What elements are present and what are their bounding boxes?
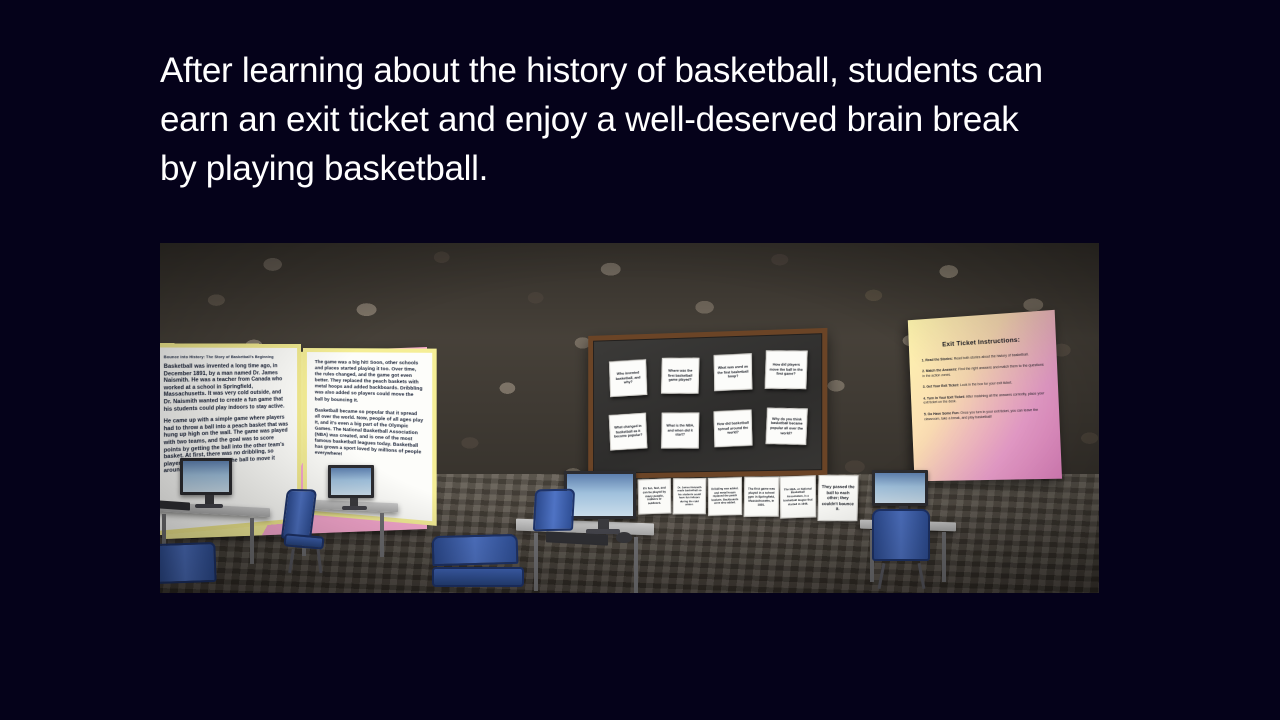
question-card[interactable]: What changed in basketball as it became … <box>608 412 647 450</box>
poster-step: 1. Read the Stories: Read both stories a… <box>922 351 1044 363</box>
answer-card[interactable]: The NBA, or National Basketball Associat… <box>780 475 816 518</box>
question-card-grid: Who invented basketball, and why? Where … <box>594 334 821 473</box>
desk-leg <box>634 537 638 593</box>
poster-step: 4. Turn In Your Exit Ticket: After match… <box>923 391 1045 406</box>
answer-card[interactable]: The first game was played in a school gy… <box>743 477 779 517</box>
poster-step-number: 5. <box>924 412 927 416</box>
answer-card[interactable]: They passed the ball to each other; they… <box>818 475 859 521</box>
book-title: Bounce into History: The Story of Basket… <box>164 355 290 360</box>
answer-card[interactable]: Dribbling was added, and metal hoops rep… <box>708 477 742 516</box>
book-paragraph: The game was a big hit! Soon, other scho… <box>315 359 424 405</box>
question-card[interactable]: How did basketball spread around the wor… <box>713 409 752 447</box>
poster-step-number: 2. <box>922 369 925 373</box>
chair <box>872 509 934 587</box>
monitor-screen <box>180 458 232 495</box>
classroom-scene-image: Bounce into History: The Story of Basket… <box>160 243 1099 593</box>
question-card[interactable]: Why do you think basketball became popul… <box>765 407 807 444</box>
monitor <box>180 458 238 508</box>
poster-step: 2. Match the Answers: Find the right ans… <box>922 363 1044 379</box>
question-card[interactable]: What was used as the first basketball ho… <box>713 354 752 392</box>
poster-step-label: Read the Stories: <box>925 357 953 363</box>
chair-seat <box>432 567 524 587</box>
chair <box>160 543 224 593</box>
monitor-stand-neck <box>205 495 214 504</box>
desk-leg <box>380 513 384 557</box>
poster-step-number: 1. <box>922 358 925 362</box>
exit-ticket-instructions-poster: Exit Ticket Instructions: 1. Read the St… <box>908 310 1062 481</box>
answer-card[interactable]: It's fun, fast, and can be played by man… <box>638 478 671 514</box>
chair-leg <box>878 563 886 589</box>
question-card[interactable]: Who invented basketball, and why? <box>608 359 646 397</box>
page-title: After learning about the history of bask… <box>160 46 1060 193</box>
answer-card[interactable]: Dr. James Naismith made basketball so hi… <box>673 478 706 514</box>
monitor-stand-base <box>195 504 223 508</box>
monitor-screen <box>872 470 928 506</box>
blackboard-surface: Who invented basketball, and why? Where … <box>593 333 822 474</box>
chair <box>534 489 588 549</box>
book-paragraph: Basketball was invented a long time ago,… <box>164 363 290 413</box>
question-card[interactable]: What is the NBA, and when did it start? <box>661 412 699 448</box>
chair-backrest <box>432 534 519 566</box>
monitor-screen <box>328 465 374 498</box>
monitor-stand-neck <box>598 519 609 529</box>
poster-step-text: Read both stories about the history of b… <box>954 352 1029 360</box>
desk-leg <box>942 532 946 582</box>
mouse <box>616 532 632 543</box>
book-paragraph: Basketball became so popular that it spr… <box>315 407 424 462</box>
poster-step: 5. Go Have Some Fun: Once you turn in yo… <box>924 407 1046 421</box>
poster-step: 3. Get Your Exit Ticket: Look in the box… <box>923 379 1045 390</box>
question-blackboard: Who invented basketball, and why? Where … <box>588 328 827 479</box>
monitor-stand-neck <box>350 498 358 506</box>
chair-backrest <box>533 489 575 532</box>
chair-seat <box>284 533 325 549</box>
question-card[interactable]: How did players move the ball in the fir… <box>765 351 808 390</box>
monitor-stand-base <box>342 506 367 510</box>
chair-backrest <box>872 509 930 561</box>
chair <box>432 535 524 593</box>
poster-step-label: Get Your Exit Ticket: <box>926 384 959 390</box>
question-card[interactable]: Where was the first basketball game play… <box>660 358 699 394</box>
chair <box>284 489 332 559</box>
answer-card-strip: It's fun, fast, and can be played by man… <box>638 475 858 532</box>
desk-leg <box>250 518 254 564</box>
chair-backrest <box>281 489 317 539</box>
poster-step-number: 3. <box>923 385 926 389</box>
chair-leg <box>918 563 926 589</box>
chair-backrest <box>160 542 217 584</box>
poster-title: Exit Ticket Instructions: <box>921 335 1043 350</box>
poster-step-number: 4. <box>923 396 926 400</box>
poster-step-text: Look in the box for your exit ticket. <box>960 381 1012 388</box>
monitor <box>328 465 380 510</box>
